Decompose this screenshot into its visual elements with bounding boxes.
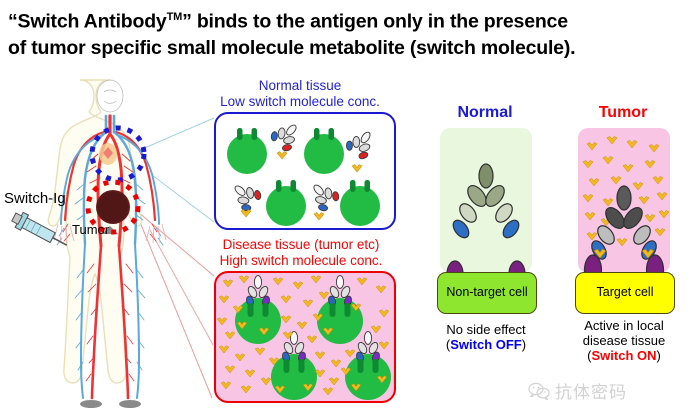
watermark-text: 抗体密码 — [555, 378, 627, 403]
switch-on-wrap: (Switch ON) — [587, 348, 661, 363]
tumor-caption-line2: disease tissue — [583, 333, 665, 348]
paren-close-2: ) — [657, 348, 661, 363]
normal-panel-background — [440, 128, 532, 273]
tumor-label: Tumor — [72, 222, 109, 237]
wechat-logo-icon — [528, 382, 550, 400]
normal-tissue-panel — [214, 112, 396, 230]
normal-tissue-illustration — [216, 114, 394, 228]
watermark: 抗体密码 — [528, 378, 688, 403]
target-cell: Target cell — [575, 272, 675, 314]
title-line1-part2: ” binds to the antigen only in the prese… — [182, 11, 568, 33]
switch-ig-label: Switch-Ig — [4, 190, 66, 207]
trademark-superscript: TM — [167, 11, 182, 23]
switch-off-wrap: (Switch OFF) — [446, 337, 526, 352]
page-title: “Switch AntibodyTM” binds to the antigen… — [8, 4, 688, 61]
switch-on-label: Switch ON — [591, 348, 656, 363]
non-target-cell: Non-target cell — [437, 272, 537, 314]
normal-tissue-caption: Normal tissue Low switch molecule conc. — [205, 78, 395, 109]
title-line2: of tumor specific small molecule metabol… — [8, 37, 575, 59]
disease-tissue-caption: Disease tissue (tumor etc) High switch m… — [203, 237, 399, 268]
disease-tissue-illustration — [216, 273, 394, 401]
panel-heading-normal: Normal — [430, 104, 540, 122]
syringe-icon — [6, 210, 76, 255]
tumor-panel-caption: Active in local disease tissue (Switch O… — [566, 318, 682, 363]
normal-tissue-caption-line2: Low switch molecule conc. — [220, 94, 380, 109]
disease-tissue-panel — [214, 271, 396, 403]
switch-off-label: Switch OFF — [450, 337, 522, 352]
paren-close: ) — [522, 337, 526, 352]
normal-tissue-caption-line1: Normal tissue — [259, 78, 342, 93]
tumor-caption-line1: Active in local — [584, 318, 663, 333]
normal-panel-illustration — [440, 128, 532, 273]
normal-caption-line1: No side effect — [446, 322, 525, 337]
panel-heading-tumor: Tumor — [568, 104, 678, 122]
disease-tissue-caption-line2: High switch molecule conc. — [220, 253, 383, 268]
title-line1-part1: “Switch Antibody — [8, 11, 167, 33]
diagram-canvas: “Switch AntibodyTM” binds to the antigen… — [0, 0, 693, 417]
disease-tissue-caption-line1: Disease tissue (tumor etc) — [223, 237, 380, 252]
normal-panel-caption: No side effect (Switch OFF) — [428, 322, 544, 352]
